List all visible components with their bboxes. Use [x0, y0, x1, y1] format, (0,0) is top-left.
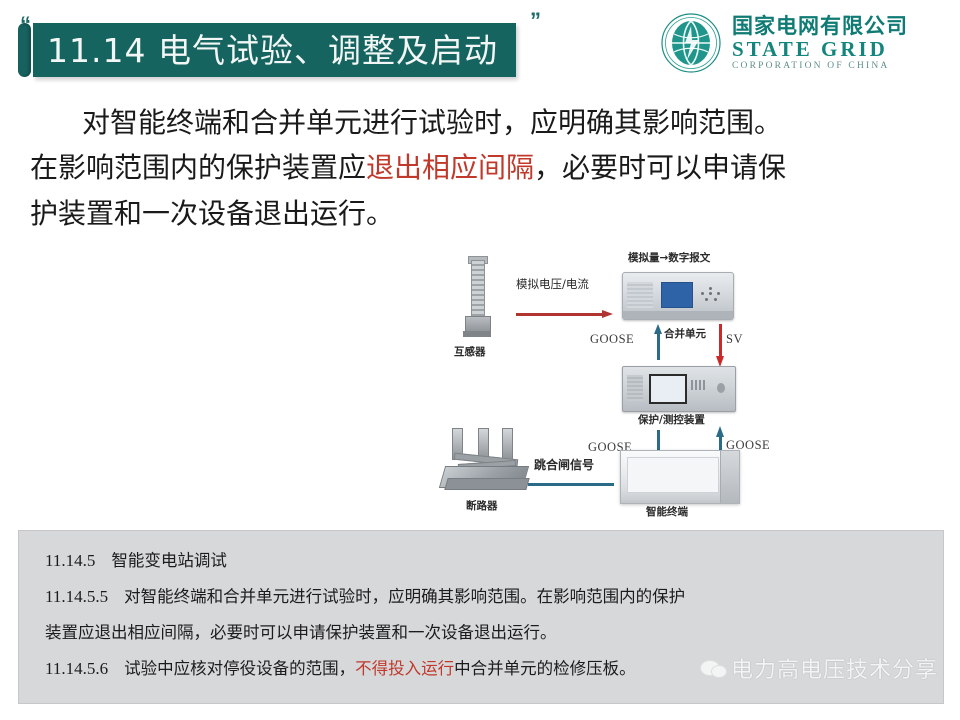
state-grid-globe-icon [660, 12, 722, 74]
watermark: 电力高电压技术分享 [700, 652, 938, 684]
note-4-highlight-red: 不得投入运行 [355, 659, 454, 678]
circuit-breaker-device-icon [440, 426, 536, 494]
merging-unit-device-icon [622, 272, 734, 320]
logo-english-name: STATE GRID [732, 38, 908, 61]
note-4-number: 11.14.5.6 [45, 659, 108, 678]
paragraph-line-3: 护装置和一次设备退出运行。 [30, 197, 394, 230]
note-line-2: 11.14.5.5对智能终端和合并单元进行试验时，应明确其影响范围。在影响范围内… [45, 583, 685, 607]
label-goose-top: GOOSE [590, 332, 634, 347]
label-merging-unit: 合并单元 [664, 326, 706, 341]
note-2-number: 11.14.5.5 [45, 587, 108, 606]
label-sv: SV [726, 332, 743, 347]
label-analog-to-digital: 模拟量→数字报文 [628, 250, 710, 265]
note-2-text: 对智能终端和合并单元进行试验时，应明确其影响范围。在影响范围内的保护 [124, 587, 685, 606]
label-ct: 互感器 [454, 344, 486, 359]
page-title: 11.14 电气试验、调整及启动 [47, 34, 498, 67]
main-paragraph: 对智能终端和合并单元进行试验时，应明确其影响范围。 在影响范围内的保护装置应退出… [30, 100, 930, 236]
label-trip-close-signal: 跳合闸信号 [534, 456, 594, 473]
smart-terminal-device-icon [620, 450, 740, 504]
label-breaker: 断路器 [466, 498, 498, 513]
label-smart-terminal: 智能终端 [646, 504, 688, 519]
slide-title-banner: 11.14 电气试验、调整及启动 [18, 22, 516, 78]
slide-canvas: 11.14 电气试验、调整及启动 “ ” 国家电网有限公司 STATE GRID… [0, 0, 960, 720]
protection-control-device-icon [622, 366, 736, 412]
smart-substation-diagram: 互感器 模拟电压/电流 模拟量→数字报文 合并单元 [432, 248, 752, 528]
logo-chinese-name: 国家电网有限公司 [732, 14, 908, 38]
note-4-text-b: 中合并单元的检修压板。 [454, 659, 636, 678]
note-3-text: 装置应退出相应间隔，必要时可以申请保护装置和一次设备退出运行。 [45, 623, 557, 642]
quote-mark-left-icon: “ [20, 14, 31, 36]
label-protection-device: 保护/测控装置 [638, 412, 705, 427]
wechat-bubble-icon [700, 658, 726, 679]
paragraph-highlight-red: 退出相应间隔 [366, 151, 534, 184]
note-line-4: 11.14.5.6试验中应核对停役设备的范围，不得投入运行中合并单元的检修压板。 [45, 655, 636, 679]
label-analog-signal: 模拟电压/电流 [516, 276, 589, 292]
note-1-number: 11.14.5 [45, 551, 95, 570]
note-line-3: 装置应退出相应间隔，必要时可以申请保护装置和一次设备退出运行。 [45, 619, 557, 643]
note-line-1: 11.14.5智能变电站调试 [45, 547, 227, 571]
paragraph-line-1: 对智能终端和合并单元进行试验时，应明确其影响范围。 [82, 106, 782, 139]
arrow-analog-to-mu [516, 310, 616, 318]
current-transformer-device-icon [464, 260, 490, 338]
arrow-sv [716, 324, 724, 368]
state-grid-logo: 国家电网有限公司 STATE GRID CORPORATION OF CHINA [660, 12, 908, 74]
paragraph-line-2a: 在影响范围内的保护装置应 [30, 151, 366, 184]
arrow-goose-to-mu [654, 324, 662, 360]
watermark-text: 电力高电压技术分享 [731, 652, 938, 684]
note-1-text: 智能变电站调试 [111, 551, 227, 570]
paragraph-line-2b: ，必要时可以申请保 [534, 151, 786, 184]
logo-english-subtitle: CORPORATION OF CHINA [732, 61, 908, 72]
quote-mark-right-icon: ” [530, 10, 541, 32]
title-bar: 11.14 电气试验、调整及启动 [33, 23, 516, 77]
note-4-text-a: 试验中应核对停役设备的范围， [124, 659, 355, 678]
